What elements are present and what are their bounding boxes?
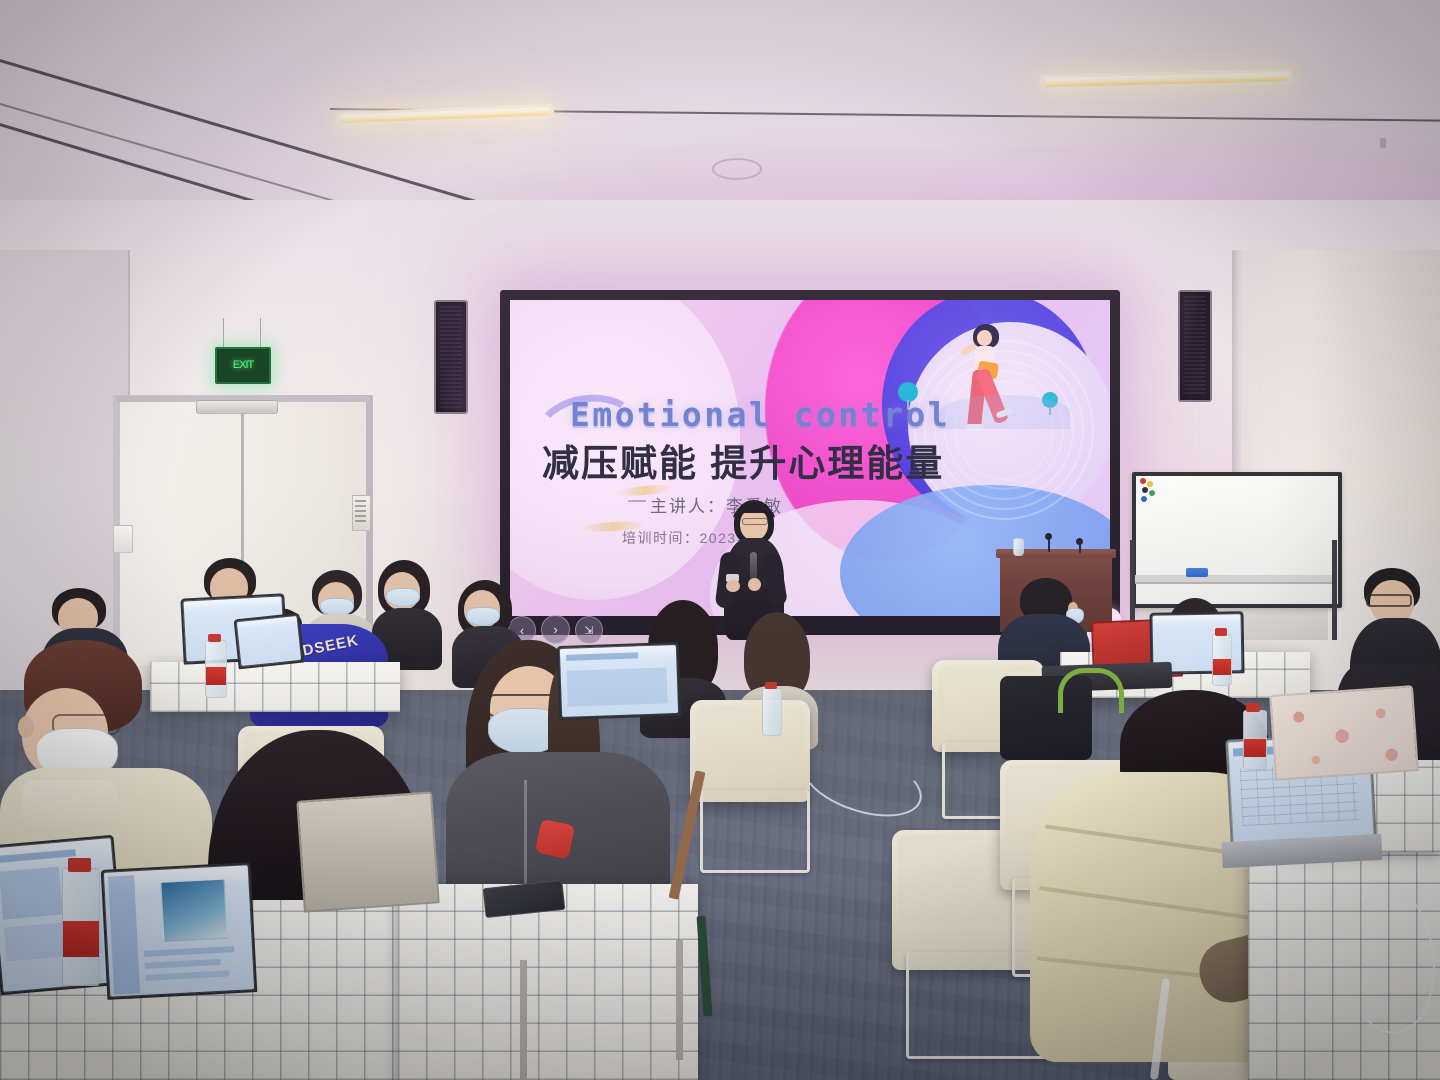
share-icon: ⇲ xyxy=(584,624,593,637)
wall-speaker-right xyxy=(1178,290,1212,402)
whiteboard-magnets xyxy=(1140,478,1156,504)
light-switch-plate[interactable] xyxy=(113,525,133,553)
bag-handle-green xyxy=(1058,668,1124,713)
chair-frame-mid-1 xyxy=(700,790,810,873)
magnet-red xyxy=(1140,478,1146,484)
water-bottle-5[interactable] xyxy=(762,688,782,736)
wall-notice-text xyxy=(355,500,366,524)
table-mid xyxy=(398,884,698,1080)
presenter-hand-mic xyxy=(748,578,761,591)
slide-title-english: Emotional control xyxy=(570,395,970,434)
laptop-thumbnail xyxy=(160,879,227,942)
laptop-list-row-1 xyxy=(144,946,234,957)
bottle-label xyxy=(63,921,99,957)
laptop-list-row-2 xyxy=(145,959,221,969)
presenter-hand-clicker xyxy=(726,580,740,592)
bottle-label xyxy=(1213,659,1231,675)
lectern-mic-head-2 xyxy=(1076,538,1083,545)
figure-head xyxy=(977,330,992,346)
laptop-ui-bar xyxy=(0,849,76,863)
laptop-case-pattern xyxy=(1276,691,1413,774)
tablecloth-grid xyxy=(398,884,698,1080)
water-bottle-3[interactable] xyxy=(1212,634,1232,686)
lectern-mic-stem-1 xyxy=(1048,538,1050,552)
exit-sign-left-glyph: EXIT xyxy=(233,360,253,371)
whiteboard-leg-right xyxy=(1332,540,1337,640)
laptop-screen[interactable] xyxy=(237,616,301,666)
chair-cushion xyxy=(696,705,804,768)
attendee-mask xyxy=(386,588,420,607)
bottle-cap-1 xyxy=(68,858,91,872)
jacket-collar xyxy=(22,780,118,830)
table-leg-1 xyxy=(520,960,527,1080)
exit-sign-wire-left-a xyxy=(223,318,224,348)
bottle-cap-4 xyxy=(1246,703,1260,712)
mobile-whiteboard[interactable] xyxy=(1132,472,1342,608)
bottle-cap-5 xyxy=(765,682,777,689)
lectern-mic-head-1 xyxy=(1045,533,1052,540)
attendee-mask xyxy=(466,607,500,626)
sprinkler-2 xyxy=(1380,138,1386,148)
table-leg-2 xyxy=(676,940,683,1060)
exit-sign-wire-left-b xyxy=(260,318,261,348)
attendee-glasses xyxy=(1366,594,1412,607)
water-bottle-4[interactable] xyxy=(1243,710,1267,770)
chair-mid-1[interactable] xyxy=(690,700,810,802)
slide-title-chinese: 减压赋能 提升心理能量 xyxy=(542,433,962,487)
bottle-cap-2 xyxy=(208,634,221,642)
laptop-pink-case[interactable] xyxy=(1269,685,1419,781)
magnet-black xyxy=(1142,487,1148,493)
bottle-label xyxy=(1244,739,1266,757)
bottle-label xyxy=(206,667,226,685)
laptop-front-center[interactable] xyxy=(101,862,258,1000)
laptop-back-left-2[interactable] xyxy=(234,613,305,670)
whiteboard-eraser[interactable] xyxy=(1186,568,1208,577)
magnet-blue xyxy=(1141,496,1147,502)
laptop-screen[interactable] xyxy=(560,645,678,717)
ceiling-speaker-ring xyxy=(712,158,762,180)
laptop-ui-bar xyxy=(566,652,638,661)
laptop-ui-block-1 xyxy=(0,867,63,920)
training-room-photo: EXIT EXIT xyxy=(0,0,1440,1080)
magnet-green xyxy=(1149,490,1155,496)
bottle-cap-3 xyxy=(1215,628,1227,636)
magnet-yellow xyxy=(1147,481,1153,487)
slide-next-icon: › xyxy=(553,622,557,637)
lectern-bottle xyxy=(1013,538,1024,556)
wall-speaker-left xyxy=(434,300,468,414)
water-bottle-2[interactable] xyxy=(205,640,227,698)
attendee-ear xyxy=(18,716,34,738)
laptop-ui-block xyxy=(567,667,668,706)
whiteboard-pen-tray xyxy=(1134,575,1332,584)
slide-dash-line xyxy=(628,500,646,502)
laptop-screen[interactable] xyxy=(104,865,254,996)
laptop-mid-row[interactable] xyxy=(557,642,682,720)
water-bottle-1[interactable] xyxy=(62,868,100,986)
laptop-lid xyxy=(296,791,439,912)
exit-sign-left: EXIT xyxy=(215,347,271,384)
hoodie-red-patch xyxy=(535,819,575,859)
laptop-mid-open[interactable] xyxy=(296,791,439,912)
door-closer xyxy=(196,400,278,414)
laptop-list-row-3 xyxy=(145,970,229,980)
laptop-sidebar xyxy=(108,875,140,994)
presenter-glasses xyxy=(742,518,768,525)
